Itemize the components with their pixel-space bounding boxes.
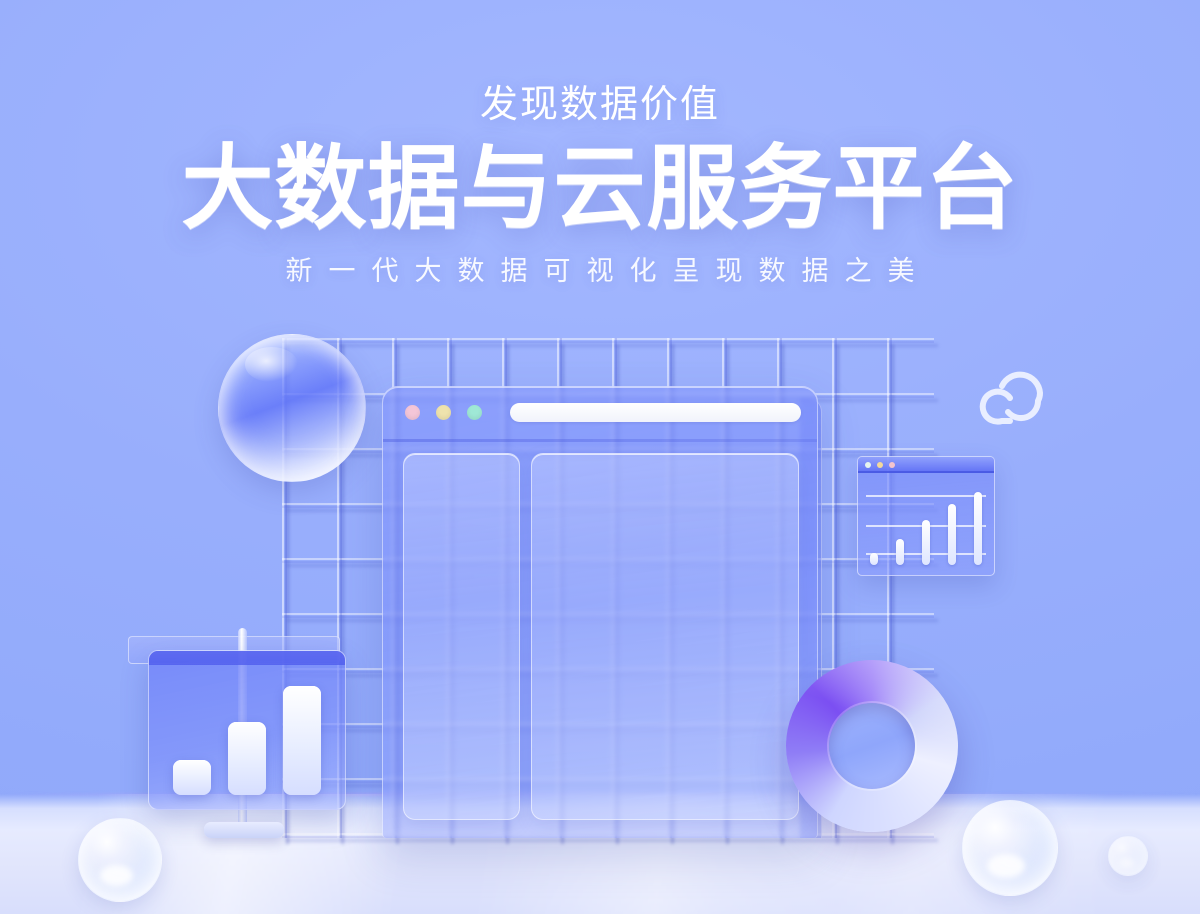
glass-sphere	[218, 334, 366, 482]
close-dot[interactable]	[405, 405, 420, 420]
gradient-torus	[786, 660, 958, 832]
traffic-light-group	[405, 405, 482, 420]
monitor-chart-bars	[165, 677, 329, 795]
hero-subtitle: 新一代大数据可视化呈现数据之美	[0, 249, 1200, 288]
close-dot[interactable]	[865, 462, 871, 468]
monitor-bar-chart-card[interactable]	[134, 636, 350, 848]
main-browser-mockup[interactable]	[382, 386, 818, 838]
hero-text-block: 发现数据价值 大数据与云服务平台 新一代大数据可视化呈现数据之美	[0, 84, 1200, 288]
mini-chart-plot-area	[866, 479, 986, 567]
bar-C	[283, 686, 321, 795]
bar-B	[228, 722, 266, 795]
bar-A	[173, 760, 211, 795]
browser-titlebar	[383, 387, 817, 439]
maximize-dot[interactable]	[467, 405, 482, 420]
sidebar-pane[interactable]	[403, 453, 520, 820]
mini-traffic-light-group	[865, 462, 895, 468]
glass-bubble-right	[962, 800, 1058, 896]
bar-2	[896, 539, 904, 565]
titlebar-divider	[383, 439, 817, 442]
mini-bar-chart-window[interactable]	[857, 456, 995, 576]
bar-1	[870, 553, 878, 565]
mini-window-titlebar	[858, 457, 994, 473]
monitor-screen-header	[149, 651, 345, 665]
bar-5	[974, 492, 982, 565]
page-title: 大数据与云服务平台	[0, 142, 1200, 238]
bar-3	[922, 520, 930, 565]
minimize-dot[interactable]	[877, 462, 883, 468]
content-pane[interactable]	[531, 453, 799, 820]
cloud-outline-icon	[968, 360, 1064, 432]
monitor-screen	[148, 650, 346, 810]
hero-banner: 发现数据价值 大数据与云服务平台 新一代大数据可视化呈现数据之美	[0, 0, 1200, 914]
hero-kicker: 发现数据价值	[0, 84, 1200, 128]
bar-4	[948, 504, 956, 565]
glass-bubble-tiny	[1108, 836, 1148, 876]
minimize-dot[interactable]	[436, 405, 451, 420]
address-bar-input[interactable]	[510, 403, 801, 422]
mini-chart-bars	[870, 487, 982, 565]
maximize-dot[interactable]	[889, 462, 895, 468]
glass-bubble-left	[78, 818, 162, 902]
monitor-stand-base	[204, 822, 284, 838]
